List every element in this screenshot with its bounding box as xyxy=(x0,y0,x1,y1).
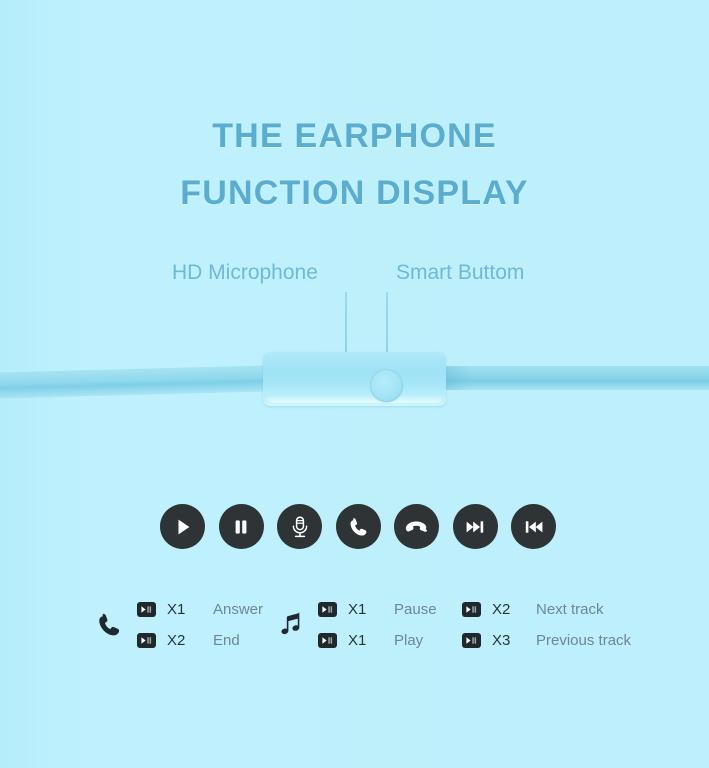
phone-hangup-icon[interactable] xyxy=(394,504,439,549)
legend-row: X1 Answer xyxy=(137,594,263,625)
play-pause-chip-icon xyxy=(137,602,156,617)
legend-action: Previous track xyxy=(536,632,631,649)
play-pause-chip-icon xyxy=(462,602,481,617)
legend-count: X2 xyxy=(492,601,536,618)
callout-label-hd-microphone: HD Microphone xyxy=(172,261,318,285)
legend-row: X2 Next track xyxy=(462,594,631,625)
play-pause-chip-icon xyxy=(137,633,156,648)
play-icon[interactable] xyxy=(160,504,205,549)
callout-label-smart-button: Smart Buttom xyxy=(396,261,524,285)
play-pause-chip-icon xyxy=(462,633,481,648)
legend-rows: X1 Answer X2 End xyxy=(137,594,263,656)
function-icon-row xyxy=(160,504,556,549)
phone-icon xyxy=(95,595,131,655)
legend-group-call: X1 Answer X2 End xyxy=(95,594,263,656)
earphone-control-module xyxy=(263,352,446,406)
legend-group-track: X2 Next track X3 Previous track xyxy=(462,594,631,656)
legend-row: X1 Pause xyxy=(318,594,437,625)
title-line-2: FUNCTION DISPLAY xyxy=(0,165,709,222)
earphone-cable-left xyxy=(0,365,284,399)
previous-track-icon[interactable] xyxy=(511,504,556,549)
function-legend: X1 Answer X2 End xyxy=(0,594,709,664)
legend-action: Answer xyxy=(213,601,263,618)
legend-count: X1 xyxy=(167,601,213,618)
legend-rows: X2 Next track X3 Previous track xyxy=(462,594,631,656)
legend-group-music: X1 Pause X1 Play xyxy=(276,594,437,656)
legend-count: X3 xyxy=(492,632,536,649)
phone-answer-icon[interactable] xyxy=(336,504,381,549)
play-pause-chip-icon xyxy=(318,602,337,617)
smart-button[interactable] xyxy=(370,369,403,402)
legend-rows: X1 Pause X1 Play xyxy=(318,594,437,656)
legend-count: X1 xyxy=(348,632,394,649)
legend-row: X1 Play xyxy=(318,625,437,656)
earphone-cable-right xyxy=(432,366,709,390)
promo-graphic: THE EARPHONE FUNCTION DISPLAY HD Microph… xyxy=(0,0,709,768)
title-line-1: THE EARPHONE xyxy=(0,108,709,165)
next-track-icon[interactable] xyxy=(453,504,498,549)
legend-count: X1 xyxy=(348,601,394,618)
legend-action: Play xyxy=(394,632,423,649)
page-title: THE EARPHONE FUNCTION DISPLAY xyxy=(0,108,709,222)
play-pause-chip-icon xyxy=(318,633,337,648)
legend-row: X2 End xyxy=(137,625,263,656)
pause-icon[interactable] xyxy=(219,504,264,549)
legend-action: Pause xyxy=(394,601,437,618)
legend-action: Next track xyxy=(536,601,604,618)
legend-action: End xyxy=(213,632,240,649)
legend-row: X3 Previous track xyxy=(462,625,631,656)
microphone-icon[interactable] xyxy=(277,504,322,549)
music-note-icon xyxy=(276,595,312,655)
legend-count: X2 xyxy=(167,632,213,649)
